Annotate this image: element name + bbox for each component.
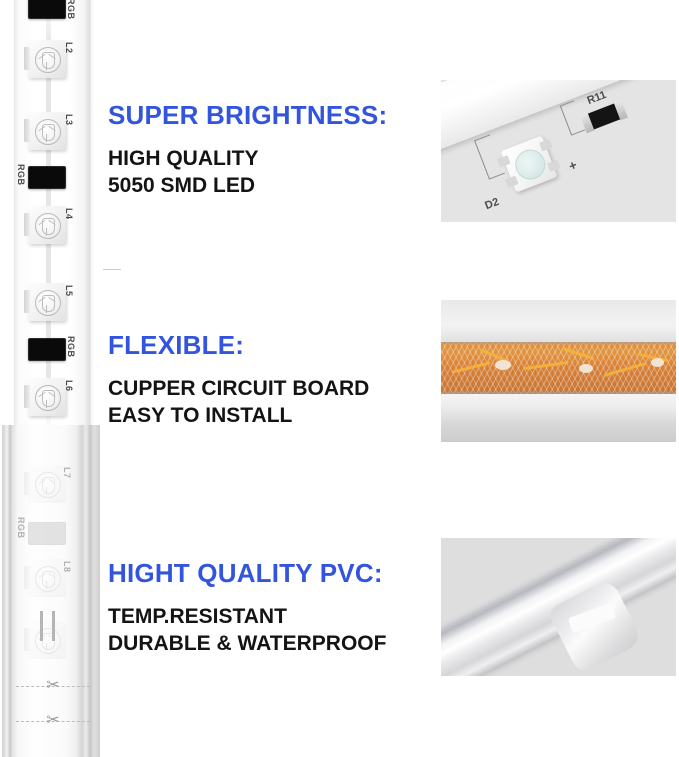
silkscreen-label-l7: L7	[62, 467, 72, 479]
feature-heading: FLEXIBLE:	[108, 330, 448, 361]
silkscreen-label-rgb: RGB	[66, 0, 76, 20]
copper-braid-core	[441, 342, 676, 394]
led-dome	[35, 213, 61, 239]
rgb-resistor	[28, 522, 66, 545]
feature-heading: HIGHT QUALITY PVC:	[108, 558, 448, 589]
led-package	[28, 283, 66, 321]
led-package	[28, 206, 66, 244]
silkscreen-label-rgb: RGB	[16, 164, 26, 186]
feature-body-line: TEMP.RESISTANT	[108, 603, 448, 630]
led-strip-pvc-segment: L7 RGB L8	[2, 425, 100, 757]
silkscreen-label-rgb: RGB	[16, 517, 26, 539]
feature-body-line: EASY TO INSTALL	[108, 402, 448, 429]
led-dome	[35, 119, 61, 145]
copper-circuit-board-photo	[441, 300, 676, 442]
silkscreen-label-l5: L5	[64, 285, 74, 297]
led-dome	[35, 628, 61, 654]
led-strip-bare-segment: RGB L2 L3 RGB	[14, 0, 90, 434]
feature-body-line: DURABLE & WATERPROOF	[108, 630, 448, 657]
decorative-rule	[103, 269, 121, 270]
feature-block-flexible: FLEXIBLE: CUPPER CIRCUIT BOARD EASY TO I…	[108, 330, 448, 430]
pvc-sleeve-top	[441, 300, 676, 342]
feature-heading: SUPER BRIGHTNESS:	[108, 100, 448, 131]
pvc-sleeve-bottom	[441, 394, 676, 442]
led-dome	[35, 472, 61, 498]
led-package	[28, 112, 66, 150]
led-package	[28, 465, 66, 503]
feature-body-line: HIGH QUALITY	[108, 145, 448, 172]
led-strip-column: RGB L2 L3 RGB	[0, 0, 112, 757]
cut-line-marker: ✂	[16, 710, 90, 732]
led-package	[28, 40, 66, 78]
feature-block-high-quality-pvc: HIGHT QUALITY PVC: TEMP.RESISTANT DURABL…	[108, 558, 448, 658]
pvc-tube-tip-photo	[441, 538, 676, 676]
scissors-icon: ✂	[46, 713, 59, 729]
silkscreen-label-rgb: RGB	[66, 336, 76, 358]
led-package	[28, 559, 66, 597]
silkscreen-label-l3: L3	[64, 114, 74, 126]
silkscreen-label-l4: L4	[64, 208, 74, 220]
rgb-resistor	[28, 0, 66, 19]
silkscreen-label-l6: L6	[64, 380, 74, 392]
feature-body-line: CUPPER CIRCUIT BOARD	[108, 375, 448, 402]
led-package	[28, 621, 66, 659]
led-phosphor-chip	[511, 145, 550, 184]
solder-pad	[52, 611, 55, 641]
rgb-resistor	[28, 338, 66, 361]
silkscreen-label-l2: L2	[64, 42, 74, 54]
smd-resistor	[587, 103, 621, 130]
feature-body-line: 5050 SMD LED	[108, 172, 448, 199]
cut-line-marker: ✂	[16, 675, 90, 697]
led-dome	[35, 290, 61, 316]
led-dome	[35, 385, 61, 411]
solder-pad	[40, 611, 43, 641]
pcb-label-d2: D2	[483, 196, 500, 212]
led-package	[28, 378, 66, 416]
led-dome	[35, 47, 61, 73]
feature-block-super-brightness: SUPER BRIGHTNESS: HIGH QUALITY 5050 SMD …	[108, 100, 448, 200]
scissors-icon: ✂	[46, 678, 59, 694]
infographic-page: RGB L2 L3 RGB	[0, 0, 679, 757]
smd-5050-led	[501, 136, 558, 193]
silkscreen-label-l8: L8	[62, 561, 72, 573]
rgb-resistor	[28, 166, 66, 189]
led-dome	[35, 566, 61, 592]
smd-led-macro-photo: R11 D2 +	[441, 80, 676, 222]
pcb-label-plus: +	[567, 157, 579, 174]
